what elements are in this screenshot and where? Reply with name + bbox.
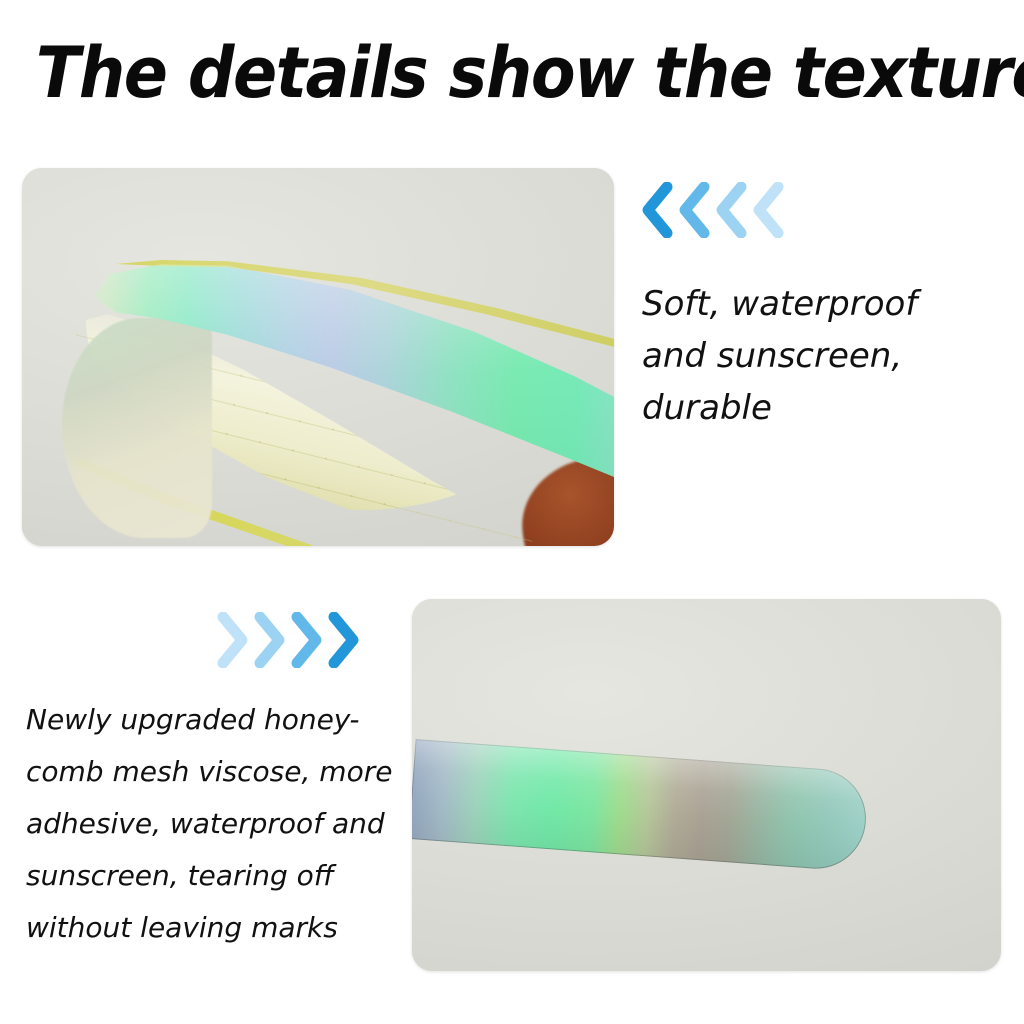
feature-line: sunscreen, tearing off [26,850,398,902]
chevron-left-icon [714,182,748,238]
holographic-tape-loop-photo [22,168,614,546]
chevron-right-icon [290,612,324,668]
chevron-right-icon [216,612,250,668]
holographic-tape-strip-photo [412,599,1001,971]
chevron-left-arrow-group [640,182,788,238]
chevron-left-icon [640,182,674,238]
feature-line: comb mesh viscose, more [26,746,398,798]
feature-line: Soft, waterproof [642,278,1002,330]
feature-line: without leaving marks [26,902,398,954]
infographic-page: The details show the texture [0,0,1024,1024]
feature-text-honeycomb-mesh: Newly upgraded honey- comb mesh viscose,… [26,694,398,954]
chevron-right-arrow-group [216,612,364,668]
feature-text-soft-waterproof: Soft, waterproof and sunscreen, durable [642,278,1002,434]
chevron-right-icon [253,612,287,668]
feature-line: Newly upgraded honey- [26,694,398,746]
feature-line: durable [642,382,1002,434]
feature-line: and sunscreen, [642,330,1002,382]
feature-line: adhesive, waterproof and [26,798,398,850]
chevron-left-icon [677,182,711,238]
chevron-right-icon [327,612,361,668]
chevron-left-icon [751,182,785,238]
tape-strip [412,739,867,839]
page-title: The details show the texture [36,38,988,108]
